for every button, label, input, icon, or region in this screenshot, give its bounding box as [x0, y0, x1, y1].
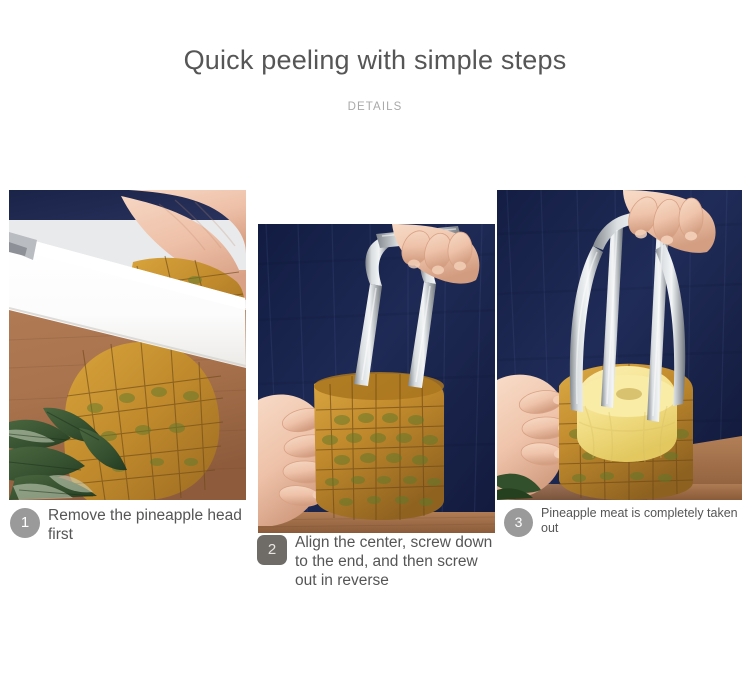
step-caption-text-2: Align the center, screw down to the end,…: [295, 533, 495, 590]
photo-pineapple-meat-removed: [497, 190, 742, 500]
page-title: Quick peeling with simple steps: [0, 45, 750, 76]
step-caption-3: 3 Pineapple meat is completely taken out: [504, 506, 744, 537]
step-image-1: [9, 190, 246, 500]
step-badge-2: 2: [257, 535, 287, 565]
step-caption-text-1: Remove the pineapple head first: [48, 506, 250, 544]
step-caption-1: 1 Remove the pineapple head first: [10, 506, 250, 544]
step-caption-2: 2 Align the center, screw down to the en…: [257, 533, 495, 590]
photo-knife-cutting-pineapple-head: [9, 190, 246, 500]
details-label: DETAILS: [0, 101, 750, 113]
page-header: Quick peeling with simple steps DETAILS: [0, 0, 750, 190]
step-caption-text-3: Pineapple meat is completely taken out: [541, 506, 744, 536]
step-image-3: [497, 190, 742, 500]
step-badge-1: 1: [10, 508, 40, 538]
step-image-2: [258, 224, 495, 533]
step-badge-3: 3: [504, 508, 533, 537]
photo-pineapple-corer-screwing-in: [258, 224, 495, 533]
